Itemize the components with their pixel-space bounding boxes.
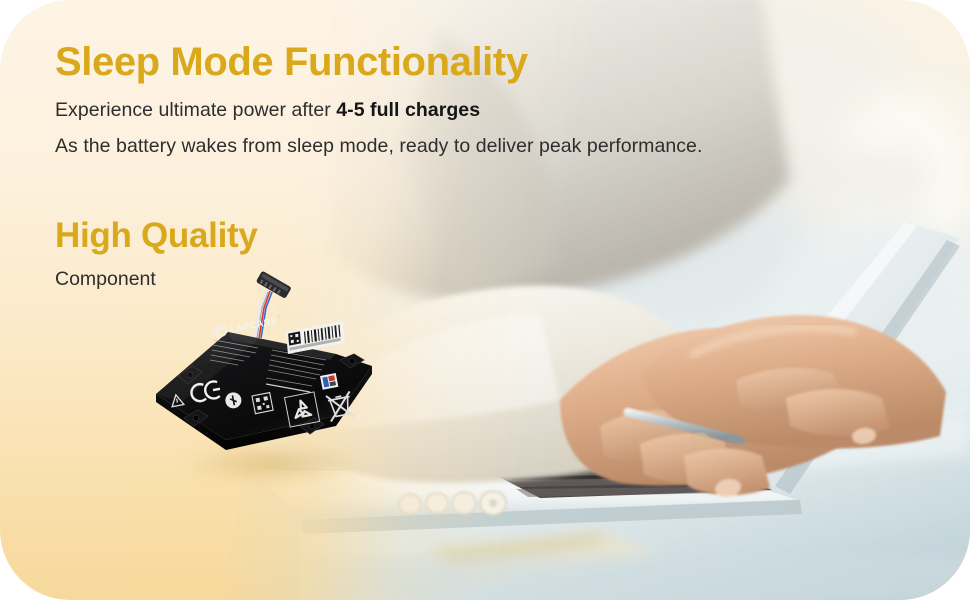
sleep-mode-heading: Sleep Mode Functionality — [55, 40, 845, 85]
high-quality-subheading: Component — [55, 268, 845, 291]
battery-barcode-sticker — [286, 321, 345, 354]
sleep-mode-lead-highlight: 4-5 full charges — [336, 99, 480, 121]
sleep-mode-lead-prefix: Experience ultimate power after — [55, 99, 336, 121]
laptop-battery-product-image: LAPCARE ® — [140, 268, 390, 498]
copy-column: Sleep Mode Functionality Experience ulti… — [55, 40, 845, 291]
high-quality-heading: High Quality — [55, 217, 845, 256]
sleep-mode-subline: As the battery wakes from sleep mode, re… — [55, 133, 845, 161]
sleep-mode-lead: Experience ultimate power after 4-5 full… — [55, 97, 845, 125]
promo-banner: LAPCARE ® — [0, 0, 970, 600]
svg-text:LAPCARE: LAPCARE — [229, 315, 278, 334]
section-two: High Quality Component — [55, 217, 845, 291]
lapcare-logo: LAPCARE ® — [215, 314, 282, 338]
section-one: Sleep Mode Functionality Experience ulti… — [55, 40, 845, 161]
svg-text:®: ® — [277, 314, 281, 319]
